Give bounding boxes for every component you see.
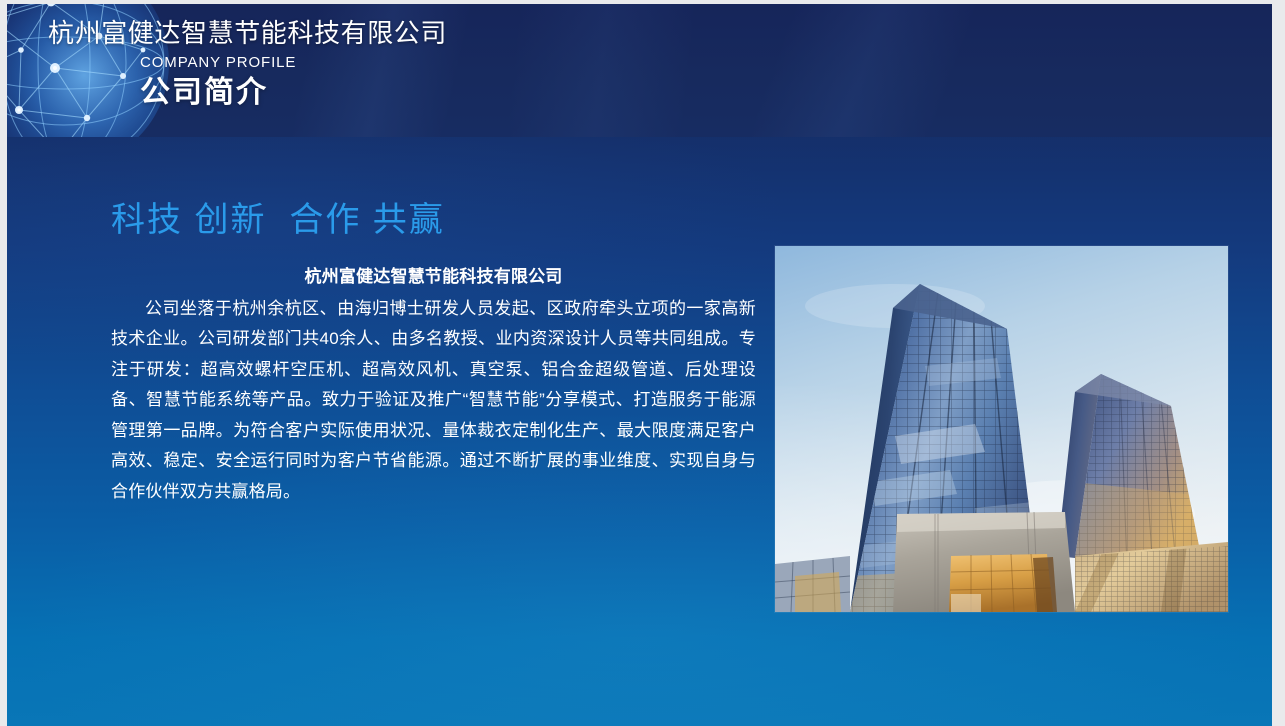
- header-text-group: 杭州富健达智慧节能科技有限公司 COMPANY PROFILE 公司简介: [48, 18, 447, 112]
- slide-canvas: 杭州富健达智慧节能科技有限公司 COMPANY PROFILE 公司简介 科技 …: [7, 4, 1272, 726]
- body-paragraph: 公司坐落于杭州余杭区、由海归博士研发人员发起、区政府牵头立项的一家高新技术企业。…: [111, 294, 756, 508]
- company-name: 杭州富健达智慧节能科技有限公司: [48, 18, 447, 48]
- section-subtitle-english: COMPANY PROFILE: [140, 54, 447, 72]
- section-title-chinese: 公司简介: [140, 74, 447, 112]
- body-heading: 杭州富健达智慧节能科技有限公司: [111, 262, 756, 293]
- slide-header: 杭州富健达智慧节能科技有限公司 COMPANY PROFILE 公司简介: [7, 4, 1272, 137]
- building-photo: [775, 246, 1228, 612]
- tagline: 科技 创新 合作 共赢: [111, 197, 445, 243]
- body-text-block: 杭州富健达智慧节能科技有限公司 公司坐落于杭州余杭区、由海归博士研发人员发起、区…: [111, 262, 756, 507]
